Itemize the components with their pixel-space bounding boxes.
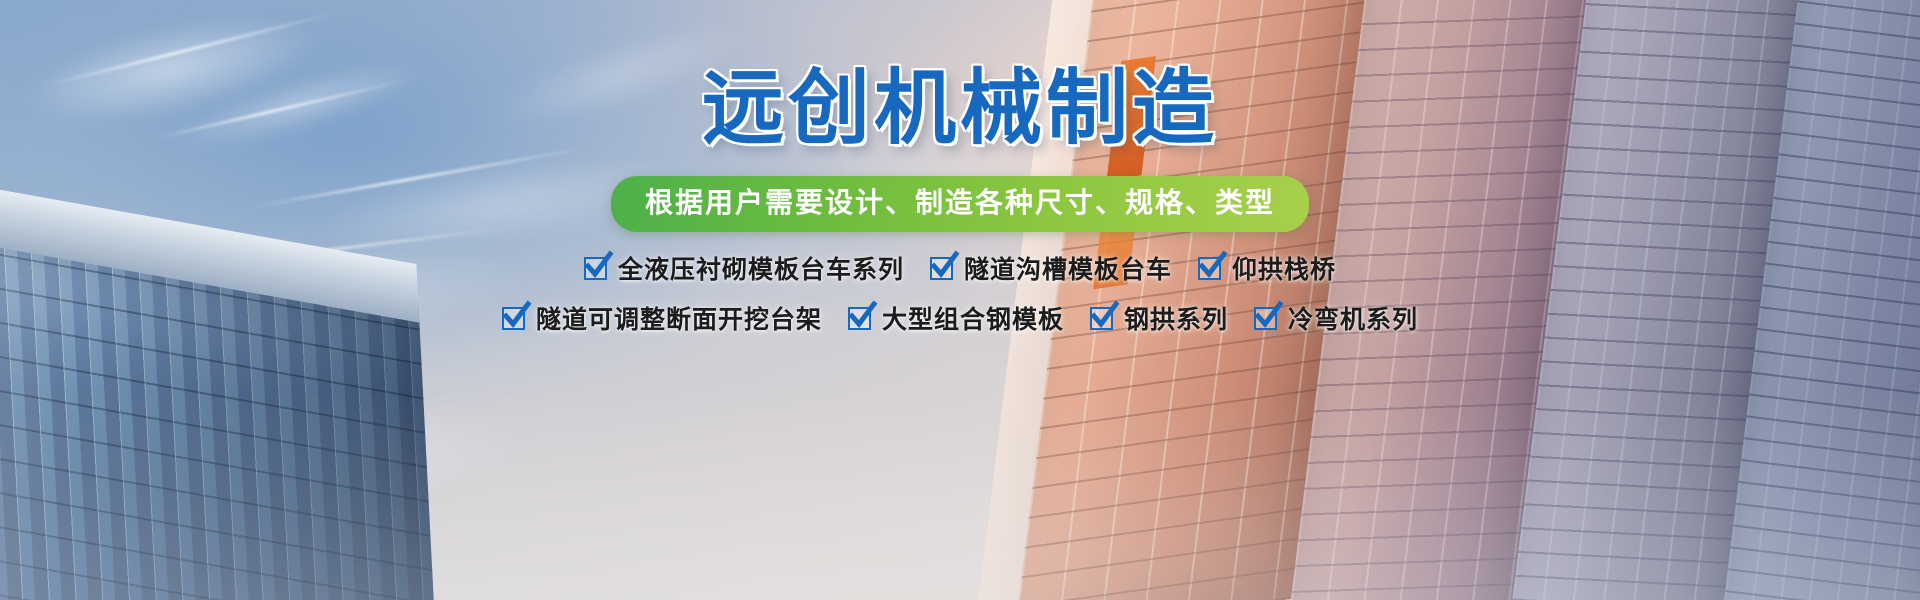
feature-item-label: 全液压衬砌模板台车系列: [618, 250, 904, 286]
checkbox-checked-icon: [1254, 307, 1277, 330]
checkbox-checked-icon: [1090, 307, 1113, 330]
feature-item-label: 冷弯机系列: [1288, 300, 1418, 336]
feature-item-label: 大型组合钢模板: [882, 300, 1064, 336]
feature-item[interactable]: 全液压衬砌模板台车系列: [584, 250, 904, 286]
checkbox-checked-icon: [930, 257, 953, 280]
feature-item[interactable]: 钢拱系列: [1090, 300, 1228, 336]
checkbox-checked-icon: [848, 307, 871, 330]
banner-content: 远创机械制造 根据用户需要设计、制造各种尺寸、规格、类型 全液压衬砌模板台车系列…: [0, 0, 1920, 600]
checkbox-checked-icon: [502, 307, 525, 330]
hero-banner: 远创机械制造 根据用户需要设计、制造各种尺寸、规格、类型 全液压衬砌模板台车系列…: [0, 0, 1920, 600]
feature-item[interactable]: 大型组合钢模板: [848, 300, 1064, 336]
feature-item[interactable]: 仰拱栈桥: [1198, 250, 1336, 286]
tagline-badge: 根据用户需要设计、制造各种尺寸、规格、类型: [611, 176, 1309, 232]
feature-row: 全液压衬砌模板台车系列 隧道沟槽模板台车 仰拱栈桥: [0, 250, 1920, 286]
feature-list: 全液压衬砌模板台车系列 隧道沟槽模板台车 仰拱栈桥: [0, 250, 1920, 350]
checkbox-checked-icon: [584, 257, 607, 280]
checkbox-checked-icon: [1198, 257, 1221, 280]
feature-item-label: 隧道沟槽模板台车: [964, 250, 1172, 286]
feature-item-label: 仰拱栈桥: [1232, 250, 1336, 286]
feature-row: 隧道可调整断面开挖台架 大型组合钢模板 钢拱系列: [0, 300, 1920, 336]
feature-item-label: 钢拱系列: [1124, 300, 1228, 336]
feature-item[interactable]: 冷弯机系列: [1254, 300, 1418, 336]
feature-item[interactable]: 隧道可调整断面开挖台架: [502, 300, 822, 336]
feature-item[interactable]: 隧道沟槽模板台车: [930, 250, 1172, 286]
feature-item-label: 隧道可调整断面开挖台架: [536, 300, 822, 336]
tagline-container: 根据用户需要设计、制造各种尺寸、规格、类型: [0, 176, 1920, 232]
banner-title: 远创机械制造: [0, 68, 1920, 150]
